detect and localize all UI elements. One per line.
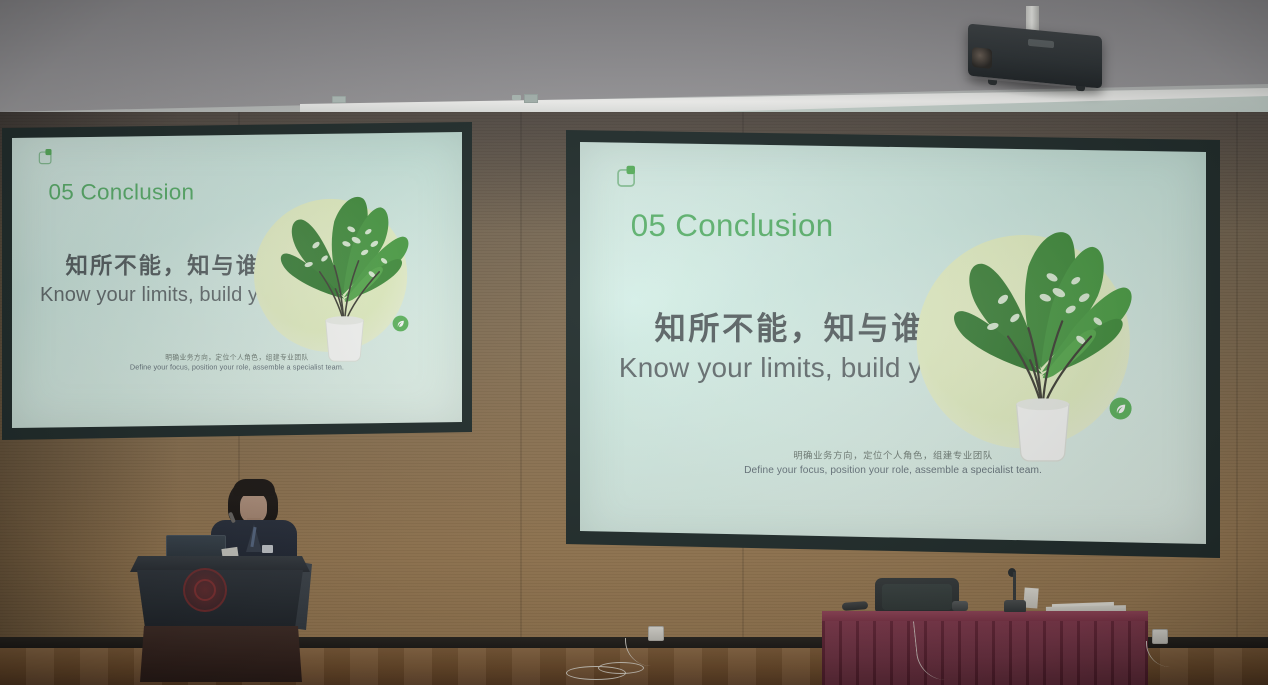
projected-slide-left: 05 Conclusion 知所不能，知与谁同 Know your limits… bbox=[12, 132, 462, 428]
ceiling-vent-icon bbox=[332, 96, 346, 103]
monstera-plant-illustration bbox=[243, 164, 444, 365]
podium-top-surface bbox=[130, 556, 310, 572]
slide-caption-en: Define your focus, position your role, a… bbox=[12, 363, 462, 372]
slide-content-right: 05 Conclusion 知所不能，知与谁同 Know your limits… bbox=[580, 142, 1206, 497]
monstera-plant-illustration bbox=[901, 186, 1180, 465]
microphone-base bbox=[1004, 600, 1026, 612]
presentation-hall-photo: 05 Conclusion 知所不能，知与谁同 Know your limits… bbox=[0, 0, 1268, 685]
slide-caption-en: Define your focus, position your role, a… bbox=[580, 463, 1206, 475]
slide-caption-cn: 明确业务方向，定位个人角色，组建专业团队 bbox=[12, 352, 462, 362]
plant-art-icon bbox=[901, 186, 1180, 465]
institutional-seal-emblem bbox=[183, 568, 227, 612]
slide-section-title: 05 Conclusion bbox=[631, 208, 834, 244]
plant-art-icon bbox=[243, 164, 444, 365]
chair-backrest-pad bbox=[882, 584, 952, 610]
projected-slide-right: 05 Conclusion 知所不能，知与谁同 Know your limits… bbox=[580, 142, 1206, 544]
desk-object bbox=[952, 601, 968, 611]
ceiling-fixture-icon bbox=[512, 95, 521, 100]
rounded-square-icon bbox=[39, 149, 52, 162]
slide-content-left: 05 Conclusion 知所不能，知与谁同 Know your limits… bbox=[12, 132, 462, 387]
microphone-stem bbox=[1013, 572, 1016, 602]
presenter-fringe bbox=[233, 479, 275, 496]
slide-caption-cn: 明确业务方向，定位个人角色，组建专业团队 bbox=[580, 448, 1206, 462]
podium-base bbox=[140, 626, 302, 682]
leaf-icon bbox=[393, 316, 409, 332]
rounded-square-icon bbox=[617, 166, 636, 185]
projector-lens-icon bbox=[972, 47, 992, 69]
ceiling-speaker-icon bbox=[524, 94, 538, 103]
table-drape-pleats bbox=[822, 621, 1148, 685]
projector-foot bbox=[988, 80, 997, 86]
slide-section-title: 05 Conclusion bbox=[48, 179, 194, 205]
presenter-badge bbox=[262, 545, 273, 553]
floor-cable-coil bbox=[598, 662, 644, 674]
projector-foot bbox=[1076, 86, 1085, 92]
leaf-icon bbox=[1110, 397, 1132, 419]
